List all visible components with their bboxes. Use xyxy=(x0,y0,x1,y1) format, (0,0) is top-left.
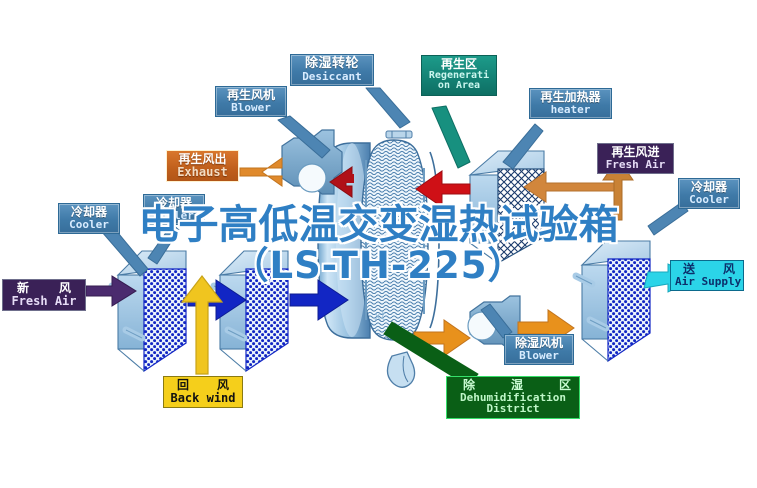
label-cn: 冷却器 xyxy=(148,197,200,210)
cooler-unit-3 xyxy=(576,241,650,361)
label-exhaust-air: 再生风出 Exhaust xyxy=(166,150,239,182)
label-en: Fresh Air xyxy=(7,295,81,308)
label-regeneration-fresh-air: 再生风进 Fresh Air xyxy=(597,143,674,174)
regeneration-heater xyxy=(470,151,544,263)
label-regeneration-heater: 再生加热器 heater xyxy=(529,88,612,119)
label-cn: 送 风 xyxy=(675,263,739,276)
label-desiccant-wheel: 除湿转轮 Desiccant xyxy=(290,54,374,86)
label-cn: 新 风 xyxy=(7,282,81,295)
label-supply-air: 送 风 Air Supply xyxy=(670,260,744,291)
label-en: heater xyxy=(534,104,607,116)
label-cn: 除湿转轮 xyxy=(295,57,369,71)
label-en-line2: District xyxy=(451,403,575,415)
diagram-canvas: xt xyxy=(0,0,757,488)
label-cn: 再生风进 xyxy=(602,146,669,159)
label-cooler-right: 冷却器 Cooler xyxy=(678,178,740,209)
label-regeneration-blower: 再生风机 Blower xyxy=(215,86,287,117)
label-en: Cooler xyxy=(683,194,735,206)
label-fresh-air-inlet: 新 风 Fresh Air xyxy=(2,279,86,311)
label-regeneration-area: 再生区 Regenerati on Area xyxy=(421,55,497,96)
label-cn: 再生风机 xyxy=(220,89,282,102)
dehumidifier-schematic: xt xyxy=(0,0,757,488)
svg-text:xt: xt xyxy=(374,309,386,323)
label-cn: 除 湿 区 xyxy=(451,379,575,392)
label-en: Cooler xyxy=(148,210,200,222)
label-en: Blower xyxy=(509,350,569,362)
label-dehumidification-blower: 除湿风机 Blower xyxy=(504,334,574,365)
label-cn: 再生区 xyxy=(426,58,492,71)
label-cn: 冷却器 xyxy=(63,206,115,219)
label-en-line2: on Area xyxy=(426,81,492,92)
cooler-unit-1 xyxy=(112,251,186,371)
label-en: Cooler xyxy=(63,219,115,231)
label-en: Fresh Air xyxy=(602,159,669,171)
label-cooler-second: 冷却器 Cooler xyxy=(143,194,205,225)
label-cn: 除湿风机 xyxy=(509,337,569,350)
label-return-air: 回 风 Back wind xyxy=(163,376,243,408)
label-cn: 冷却器 xyxy=(683,181,735,194)
label-cn: 再生加热器 xyxy=(534,91,607,104)
label-cooler-first: 冷却器 Cooler xyxy=(58,203,120,234)
label-cn: 再生风出 xyxy=(171,153,234,166)
label-en: Desiccant xyxy=(295,71,369,83)
label-cn: 回 风 xyxy=(168,379,238,392)
label-en: Air Supply xyxy=(675,276,739,288)
label-dehumidification-district: 除 湿 区 Dehumidification District xyxy=(446,376,580,419)
label-en: Back wind xyxy=(168,392,238,405)
label-en: Exhaust xyxy=(171,166,234,179)
label-en: Blower xyxy=(220,102,282,114)
arrow-exhaust xyxy=(240,158,282,186)
